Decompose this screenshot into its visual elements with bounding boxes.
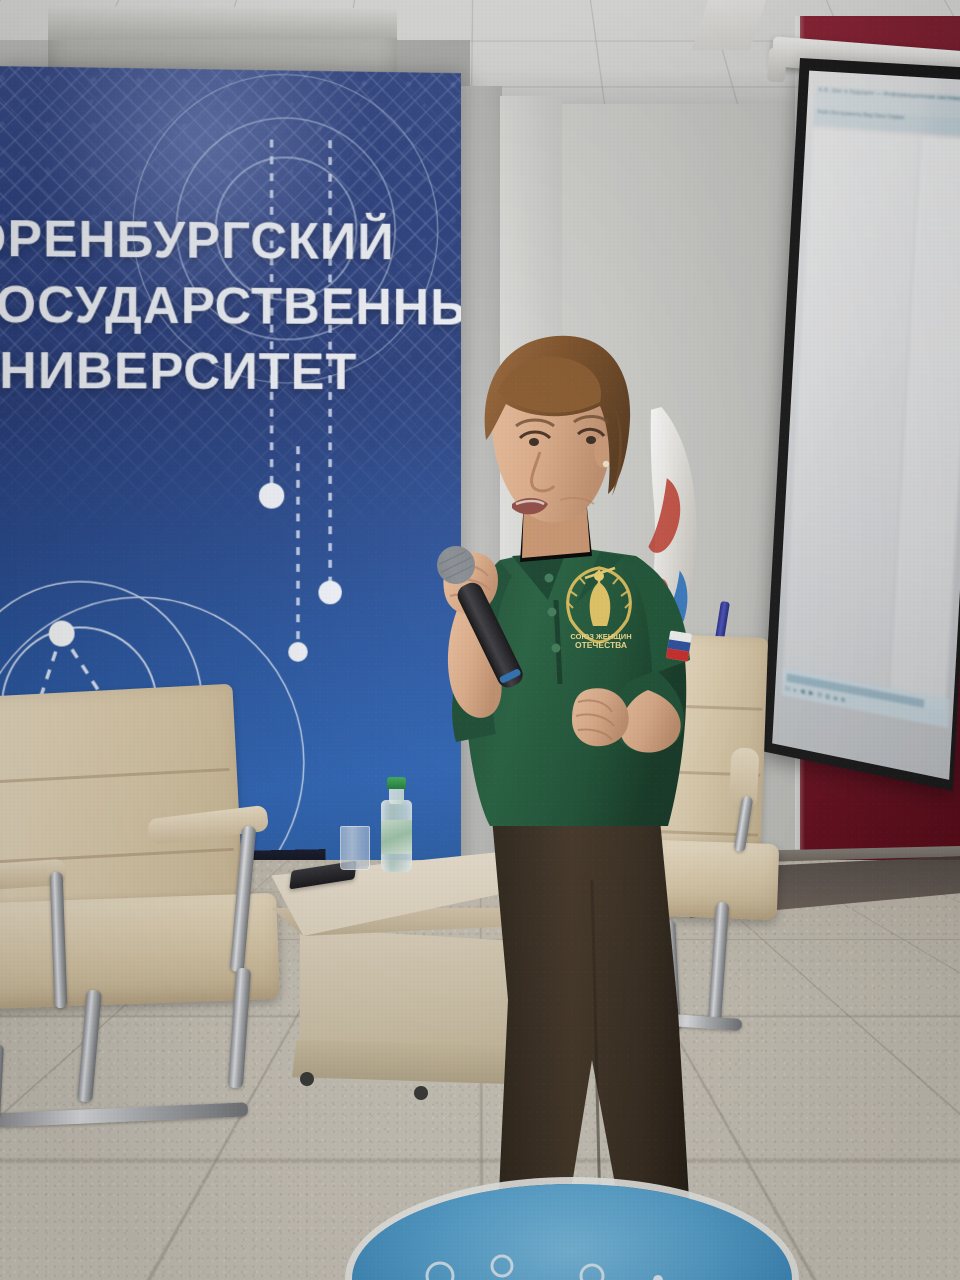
russian-tricolor-flag-patch xyxy=(666,630,692,661)
polo-button xyxy=(545,574,554,583)
photo-scene: А.В. Шаг в будущее — Информационная сист… xyxy=(0,0,960,1280)
speaker: СОЮЗ ЖЕНЩИН ОТЕЧЕСТВА xyxy=(0,0,960,1280)
earring xyxy=(603,461,609,467)
decal-text-graphics: ТОЧКА КИПЕНИЯ ОГУ xyxy=(352,1184,792,1280)
polo-button xyxy=(552,644,561,653)
boiling-point-floor-decal: ТОЧКА КИПЕНИЯ ОГУ xyxy=(352,1184,792,1280)
trousers xyxy=(492,818,690,1222)
emblem-line-2: ОТЕЧЕСТВА xyxy=(575,640,627,650)
polo-button xyxy=(548,608,557,617)
